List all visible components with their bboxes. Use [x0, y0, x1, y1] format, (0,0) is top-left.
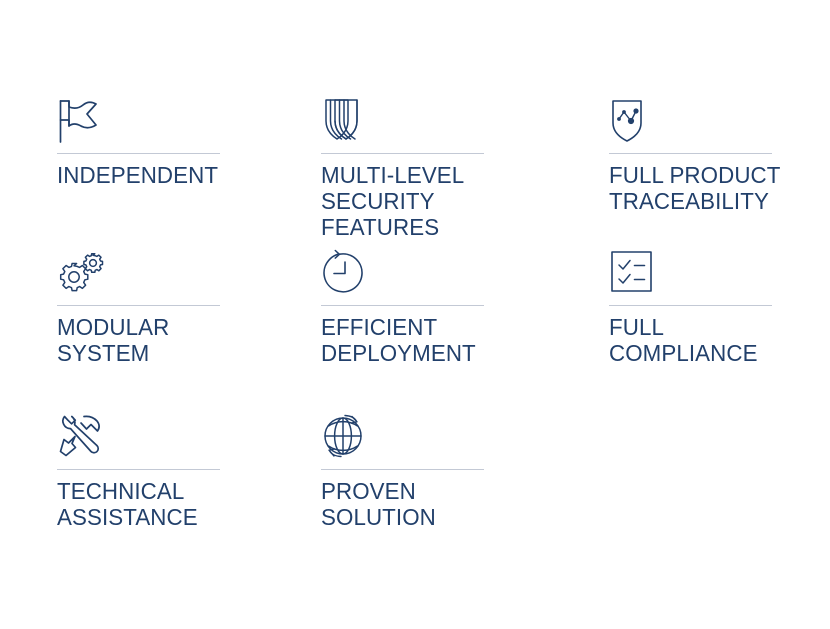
layered-shield-icon	[321, 97, 571, 143]
feature-label: MULTI-LEVEL SECURITY FEATURES	[321, 162, 559, 240]
divider	[57, 153, 220, 154]
feature-label: PROVEN SOLUTION	[321, 478, 559, 530]
feature-card-efficient-deployment: EFFICIENT DEPLOYMENT	[321, 249, 571, 366]
feature-grid: INDEPENDENT MULTI-LEVEL SECURITY FEATURE…	[0, 0, 830, 629]
feature-label: FULL PRODUCT TRACEABILITY	[609, 162, 830, 214]
clock-arrow-icon	[321, 249, 571, 295]
divider	[609, 153, 772, 154]
divider	[321, 305, 484, 306]
gears-icon	[57, 249, 307, 295]
feature-card-independent: INDEPENDENT	[57, 97, 307, 188]
feature-label: MODULAR SYSTEM	[57, 314, 295, 366]
feature-card-multi-level-security-features: MULTI-LEVEL SECURITY FEATURES	[321, 97, 571, 240]
divider	[57, 469, 220, 470]
checklist-icon	[609, 249, 830, 295]
feature-label: FULL COMPLIANCE	[609, 314, 830, 366]
flag-icon	[57, 97, 307, 143]
hammer-wrench-icon	[57, 413, 307, 459]
shield-network-icon	[609, 97, 830, 143]
divider	[321, 469, 484, 470]
feature-card-full-product-traceability: FULL PRODUCT TRACEABILITY	[609, 97, 830, 214]
divider	[57, 305, 220, 306]
feature-card-full-compliance: FULL COMPLIANCE	[609, 249, 830, 366]
feature-card-technical-assistance: TECHNICAL ASSISTANCE	[57, 413, 307, 530]
feature-label: INDEPENDENT	[57, 162, 295, 188]
feature-card-modular-system: MODULAR SYSTEM	[57, 249, 307, 366]
feature-label: TECHNICAL ASSISTANCE	[57, 478, 295, 530]
globe-icon	[321, 413, 571, 459]
feature-card-proven-solution: PROVEN SOLUTION	[321, 413, 571, 530]
divider	[321, 153, 484, 154]
divider	[609, 305, 772, 306]
feature-label: EFFICIENT DEPLOYMENT	[321, 314, 559, 366]
